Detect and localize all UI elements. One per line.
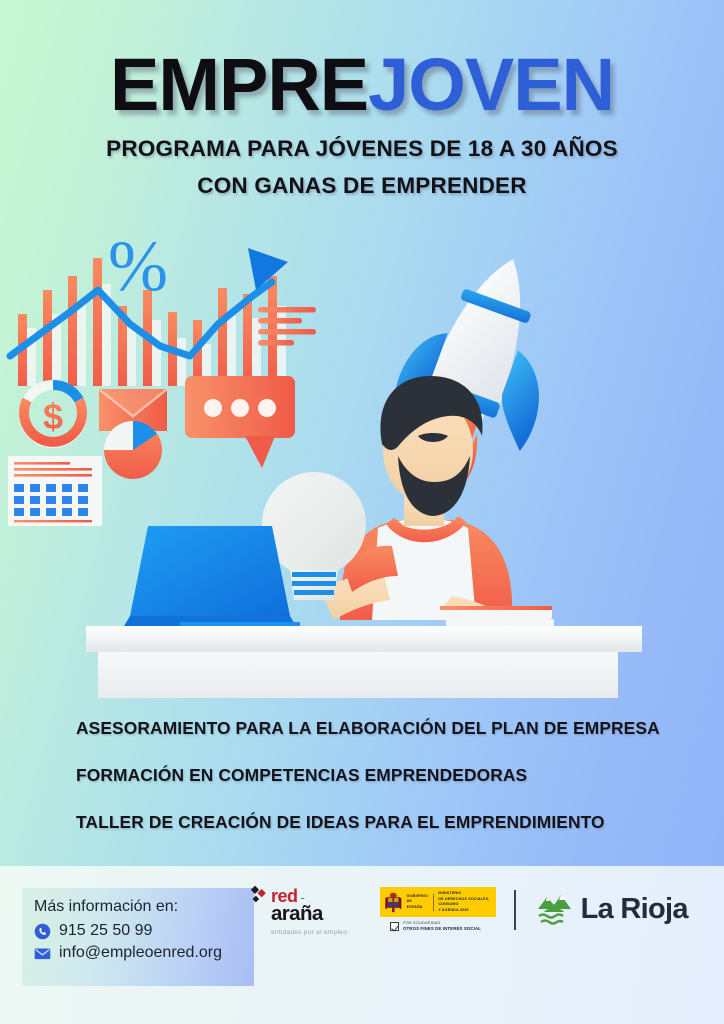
rioja-mountain-icon (534, 892, 574, 928)
ministry-line-3: Y AGENDA 2030 (438, 908, 496, 914)
text-lines-icon (258, 307, 316, 346)
svg-text:$: $ (43, 396, 63, 437)
email-address: info@empleoenred.org (59, 944, 222, 962)
diamond-icon (250, 884, 270, 904)
poster-panel: EMPREJOVEN PROGRAMA PARA JÓVENES DE 18 A… (0, 0, 724, 866)
logo-row: red - araña entidades por el empleo (250, 884, 688, 936)
logo-divider (514, 890, 516, 930)
pie-chart-icon (104, 421, 162, 479)
contact-info-box: Más información en: 915 25 50 99 info@em… (22, 888, 254, 986)
coat-of-arms-icon (384, 889, 403, 915)
gobierno-yellow-bar: GOBIERNO DE ESPAÑA MINISTERIO DE DERECHO… (380, 887, 496, 917)
title-block: EMPREJOVEN PROGRAMA PARA JÓVENES DE 18 A… (0, 48, 724, 199)
logo-tagline: entidades por el empleo (271, 929, 358, 936)
desk (86, 626, 642, 698)
service-item-1: ASESORAMIENTO PARA LA ELABORACIÓN DEL PL… (76, 718, 676, 739)
contact-heading: Más información en: (34, 898, 254, 916)
logo-red-arana[interactable]: red - araña entidades por el empleo (250, 884, 358, 936)
logo-la-rioja[interactable]: La Rioja (534, 892, 688, 928)
service-item-2: FORMACIÓN EN COMPETENCIAS EMPRENDEDORAS (76, 765, 676, 786)
calendar-icon (8, 456, 102, 526)
solidarity-line-2: OTROS FINES DE INTERÉS SOCIAL (403, 926, 481, 933)
ministry-line-2: DE DERECHOS SOCIALES, CONSUMO (438, 897, 496, 908)
rioja-name: La Rioja (581, 893, 688, 926)
logo-arana-text: araña (271, 904, 358, 923)
footer-bar: Más información en: 915 25 50 99 info@em… (0, 866, 724, 1024)
illustration-graphic: % $ (0, 228, 724, 698)
subtitle-line-2: CON GANAS DE EMPRENDER (0, 173, 724, 199)
logo-gobierno-espana[interactable]: GOBIERNO DE ESPAÑA MINISTERIO DE DERECHO… (380, 887, 496, 932)
laptop-icon (124, 526, 300, 631)
phone-icon (34, 923, 51, 940)
title-part-joven: JOVEN (368, 43, 614, 126)
subtitle-line-1: PROGRAMA PARA JÓVENES DE 18 A 30 AÑOS (0, 136, 724, 162)
title-part-empre: EMPRE (110, 43, 368, 126)
solidarity-block: POR SOLIDARIDAD OTROS FINES DE INTERÉS S… (380, 920, 496, 932)
envelope-icon (34, 945, 51, 962)
email-row[interactable]: info@empleoenred.org (34, 944, 254, 962)
chat-bubble-icon (185, 376, 295, 468)
phone-number: 915 25 50 99 (59, 922, 152, 940)
percent-symbol: % (108, 228, 168, 306)
service-item-3: TALLER DE CREACIÓN DE IDEAS PARA EL EMPR… (76, 812, 676, 833)
gobierno-line-2: DE ESPAÑA (407, 899, 428, 910)
page-title: EMPREJOVEN (0, 48, 724, 122)
donut-chart-dollar-icon: $ (24, 385, 82, 443)
checkbox-icon (390, 922, 399, 931)
services-list: ASESORAMIENTO PARA LA ELABORACIÓN DEL PL… (76, 718, 676, 859)
phone-row[interactable]: 915 25 50 99 (34, 922, 254, 940)
